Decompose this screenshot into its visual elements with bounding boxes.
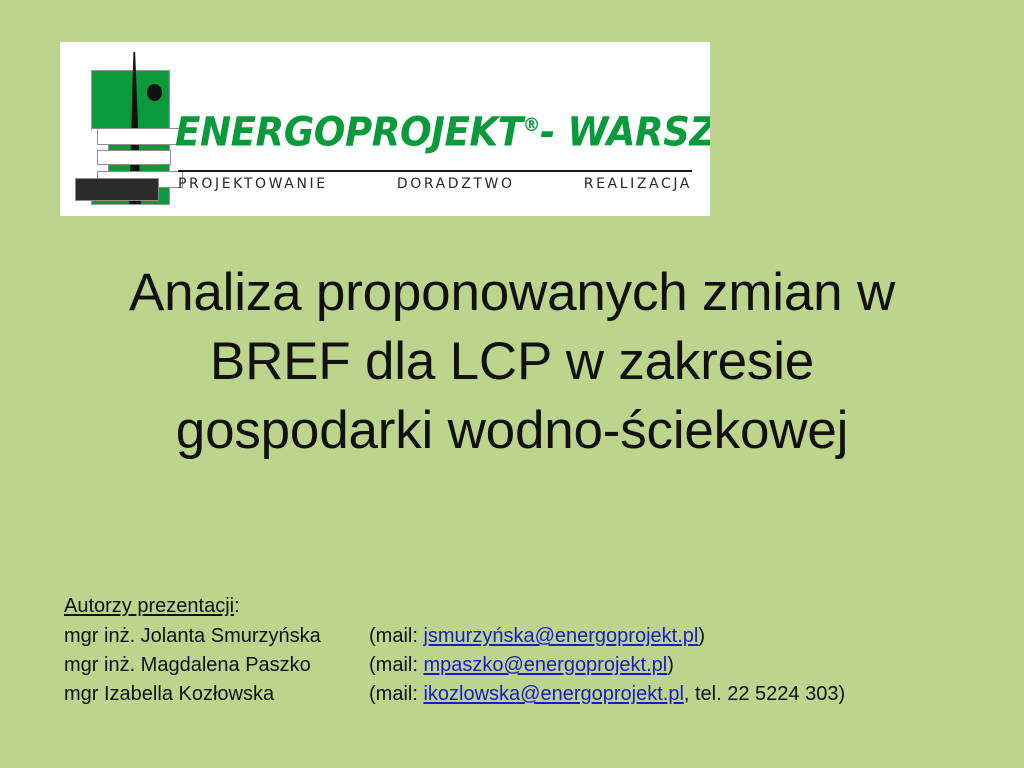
author-row: mgr Izabella Kozłowska (mail: ikozlowska… <box>64 680 845 709</box>
author-row: mgr inż. Magdalena Paszko (mail: mpaszko… <box>64 651 845 680</box>
author-contact: (mail: mpaszko@energoprojekt.pl) <box>369 651 674 680</box>
authors-heading-text: Autorzy prezentacji <box>64 595 234 617</box>
author-name: mgr inż. Jolanta Smurzyńska <box>64 622 369 651</box>
wordmark-suffix: - WARSZAWA SA <box>540 109 710 155</box>
author-contact: (mail: jsmurzyńska@energoprojekt.pl) <box>369 622 705 651</box>
company-wordmark: ENERGOPROJEKT®- WARSZAWA SA <box>175 94 659 156</box>
logo-divider <box>178 170 692 172</box>
author-email-link[interactable]: mpaszko@energoprojekt.pl <box>423 654 667 676</box>
emblem-e-bar-middle <box>97 150 171 165</box>
company-logo-panel: ENERGOPROJEKT®- WARSZAWA SA PROJEKTOWANI… <box>60 42 710 216</box>
mail-prefix: (mail: <box>369 625 423 647</box>
wordmark-name: ENERGOPROJEKT <box>175 109 523 155</box>
author-name: mgr inż. Magdalena Paszko <box>64 651 369 680</box>
title-line-2: BREF dla LCP w zakresie <box>62 327 962 396</box>
slide-title: Analiza proponowanych zmian w BREF dla L… <box>62 258 962 465</box>
title-line-3: gospodarki wodno-ściekowej <box>62 396 962 465</box>
tagline-projektowanie: PROJEKTOWANIE <box>178 176 328 192</box>
emblem-dot-icon <box>147 84 162 101</box>
mail-suffix: ) <box>667 654 674 676</box>
author-email-link[interactable]: jsmurzyńska@energoprojekt.pl <box>423 625 698 647</box>
logo-taglines: PROJEKTOWANIE DORADZTWO REALIZACJA <box>178 176 692 192</box>
mail-suffix: , tel. 22 5224 303) <box>684 683 845 705</box>
mail-prefix: (mail: <box>369 654 423 676</box>
mail-prefix: (mail: <box>369 683 423 705</box>
author-contact: (mail: ikozlowska@energoprojekt.pl, tel.… <box>369 680 845 709</box>
authors-block: Autorzy prezentacji: mgr inż. Jolanta Sm… <box>64 592 845 709</box>
registered-trademark-icon: ® <box>523 114 540 136</box>
emblem-base-bar <box>75 178 159 201</box>
emblem-e-bar-top <box>97 128 183 145</box>
mail-suffix: ) <box>698 625 705 647</box>
presentation-slide: ENERGOPROJEKT®- WARSZAWA SA PROJEKTOWANI… <box>0 0 1024 768</box>
title-line-1: Analiza proponowanych zmian w <box>62 258 962 327</box>
authors-heading-colon: : <box>234 595 240 617</box>
tagline-realizacja: REALIZACJA <box>584 176 692 192</box>
author-row: mgr inż. Jolanta Smurzyńska (mail: jsmur… <box>64 622 845 651</box>
author-email-link[interactable]: ikozlowska@energoprojekt.pl <box>423 683 683 705</box>
tagline-doradztwo: DORADZTWO <box>397 176 515 192</box>
authors-heading: Autorzy prezentacji: <box>64 592 845 621</box>
author-name: mgr Izabella Kozłowska <box>64 680 369 709</box>
